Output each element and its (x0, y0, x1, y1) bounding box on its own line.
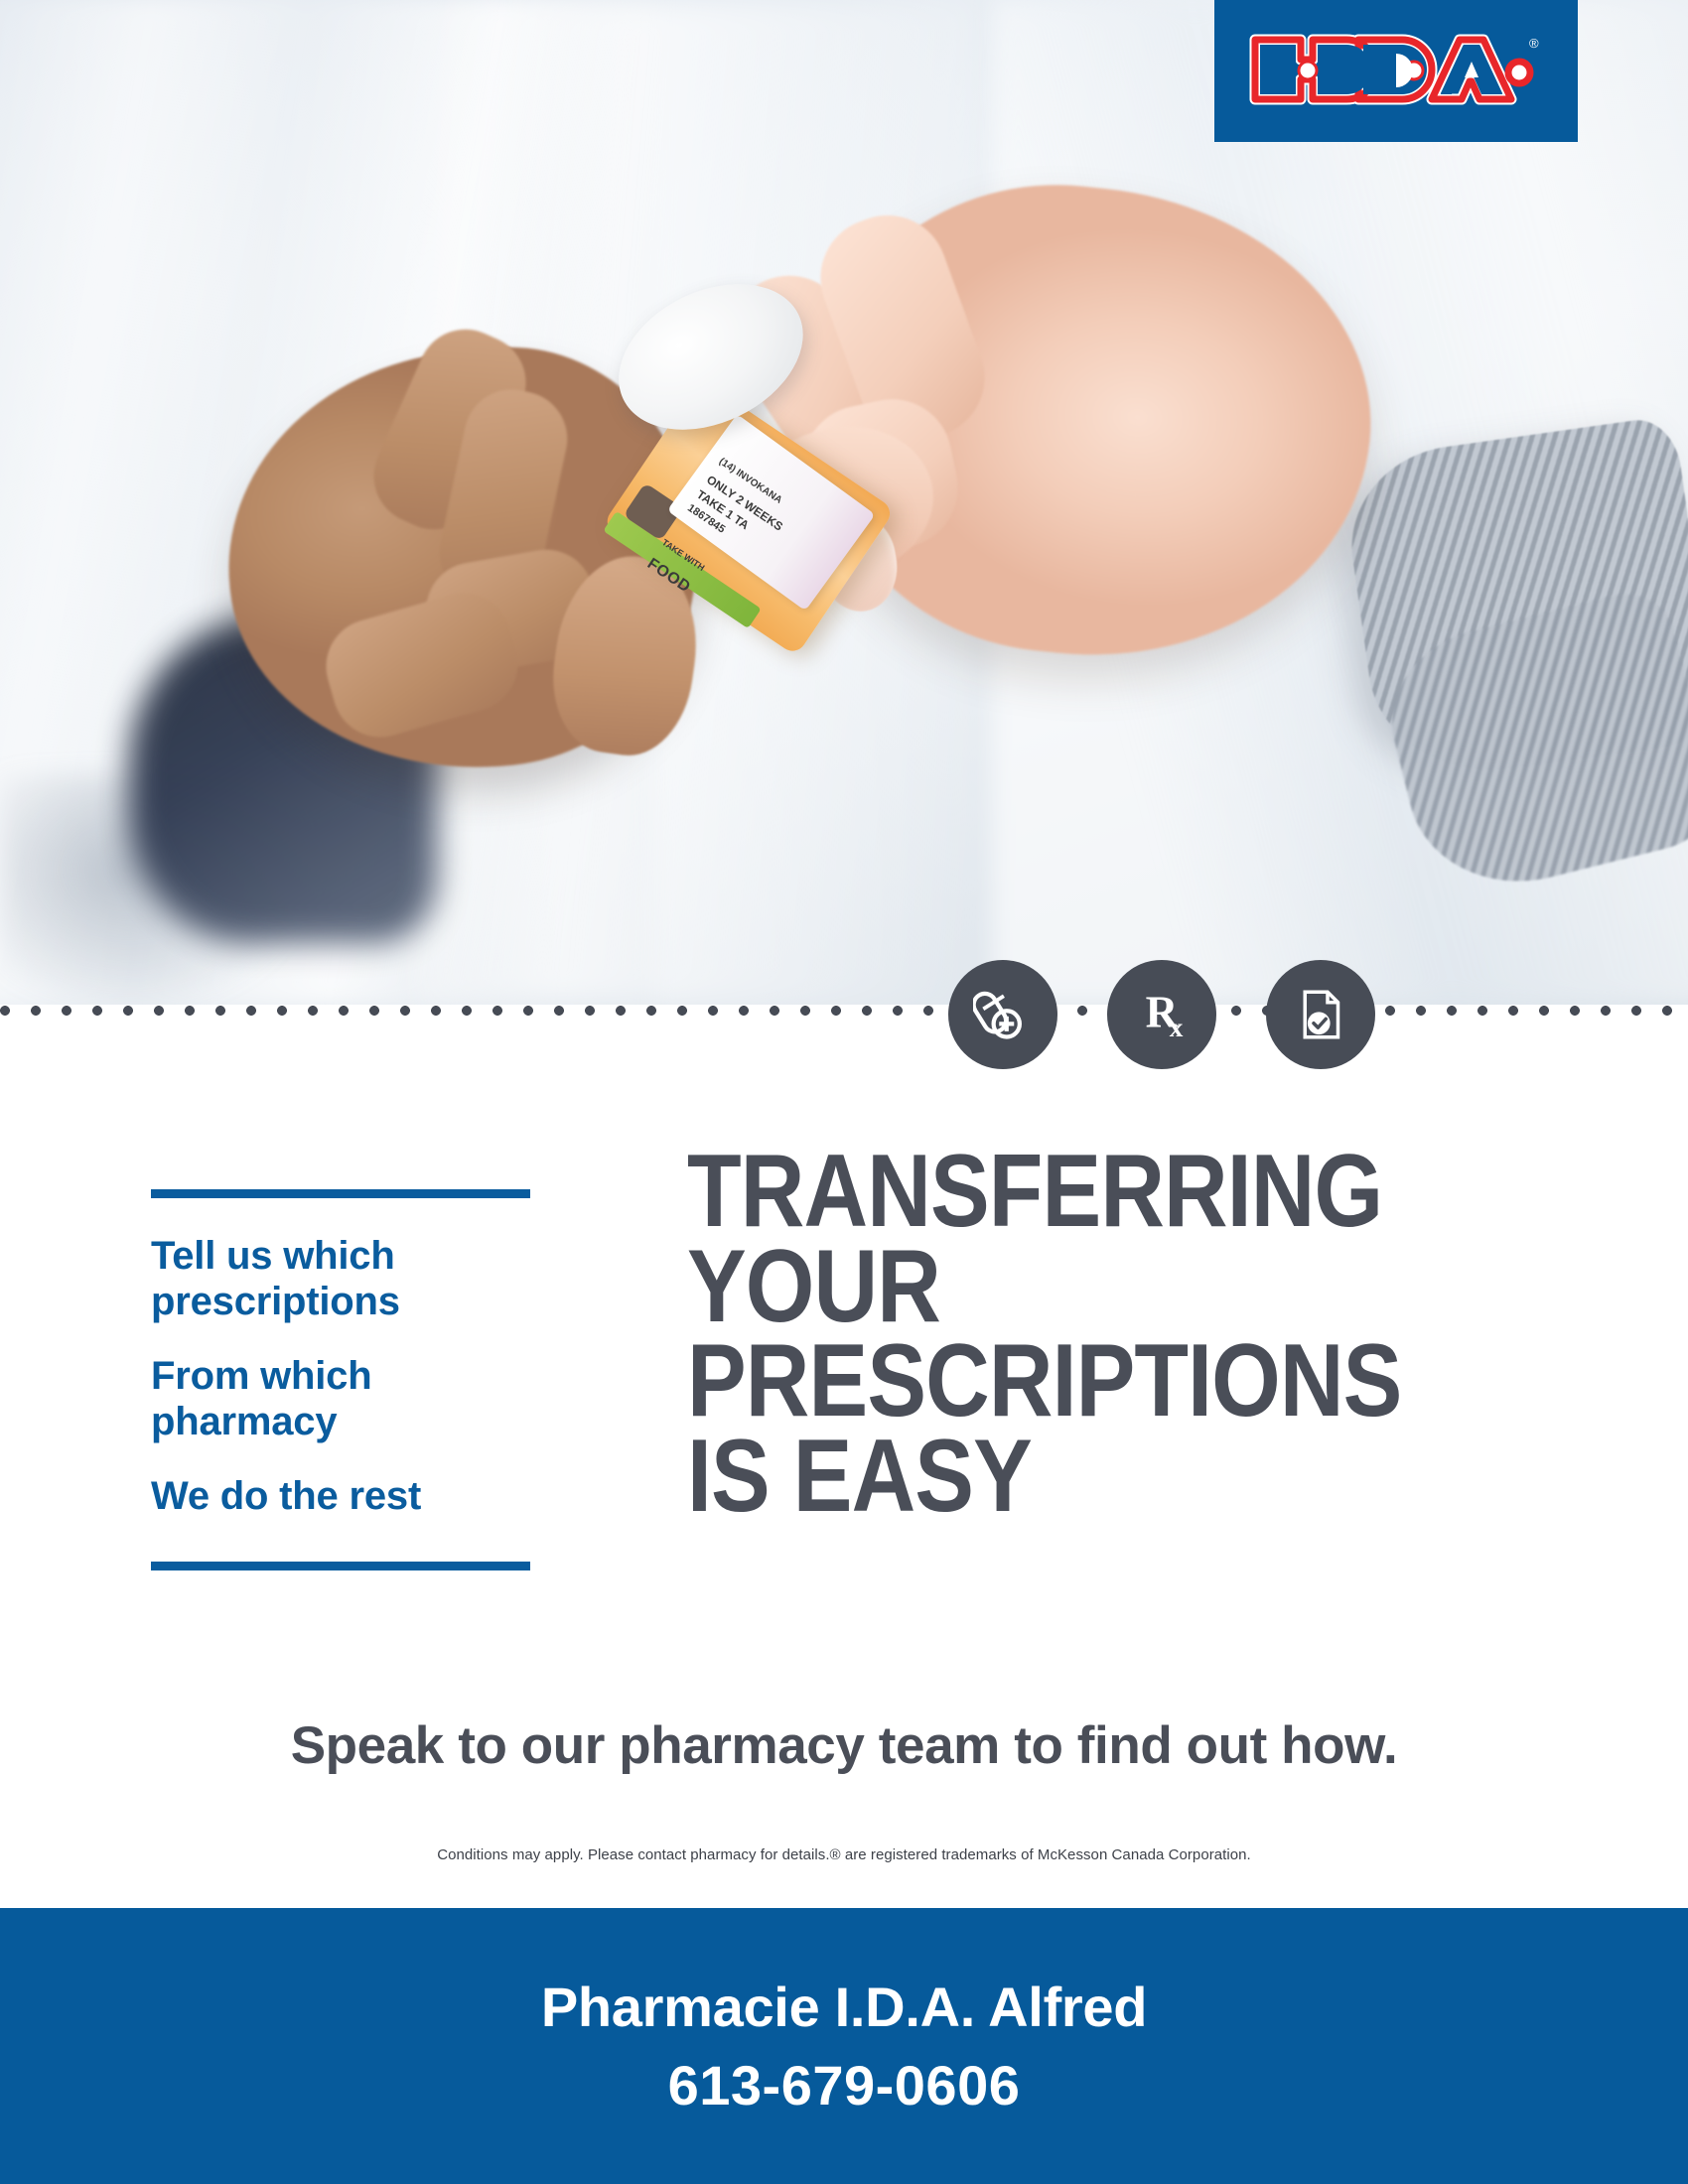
steps-list: Tell us which prescriptions From which p… (151, 1189, 530, 1570)
pharmacy-name: Pharmacie I.D.A. Alfred (541, 1975, 1147, 2039)
step-item: Tell us which prescriptions (151, 1234, 530, 1324)
pharmacy-phone[interactable]: 613-679-0606 (668, 2053, 1021, 2117)
headline-line-1: TRANSFERRING (687, 1145, 1507, 1240)
legal-disclaimer: Conditions may apply. Please contact pha… (0, 1846, 1688, 1863)
ida-logo: ® (1214, 0, 1578, 142)
rx-icon: R x (1107, 960, 1216, 1069)
svg-text:x: x (1170, 1013, 1184, 1042)
poster-content: Tell us which prescriptions From which p… (0, 1021, 1688, 1576)
step-item: From which pharmacy (151, 1354, 530, 1444)
call-to-action-text: Speak to our pharmacy team to find out h… (0, 1715, 1688, 1776)
headline-line-2: YOUR (687, 1240, 1507, 1335)
dotted-divider (0, 1001, 1688, 1021)
icon-badge-row: R x (948, 955, 1375, 1074)
document-check-icon (1266, 960, 1375, 1069)
headline-line-3: PRESCRIPTIONS (687, 1334, 1507, 1430)
headline-line-4: IS EASY (687, 1430, 1507, 1525)
footer-bar: Pharmacie I.D.A. Alfred 613-679-0606 (0, 1908, 1688, 2184)
pills-plus-icon (948, 960, 1057, 1069)
steps-rule-top (151, 1189, 530, 1198)
ida-registered-mark: ® (1529, 36, 1539, 51)
step-item: We do the rest (151, 1474, 530, 1520)
page-title: TRANSFERRING YOUR PRESCRIPTIONS IS EASY (687, 1145, 1507, 1525)
steps-rule-bottom (151, 1562, 530, 1570)
ida-logo-icon: ® (1247, 24, 1545, 119)
hero-photo: FOOD TAKE WITH 1867845 TAKE 1 TA ONLY 2 … (0, 0, 1688, 1005)
